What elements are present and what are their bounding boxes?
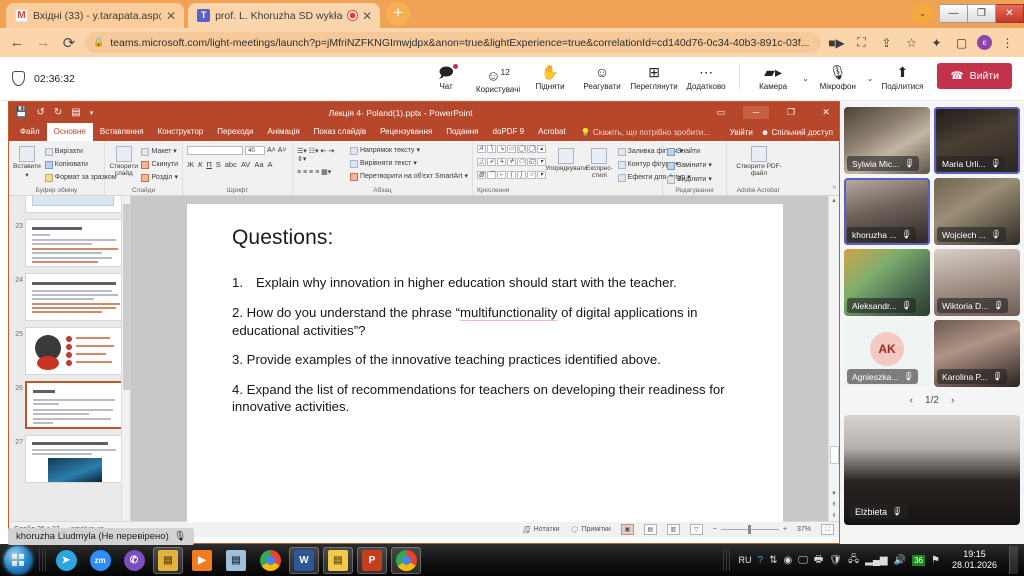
shape-oval-icon: ◯ (517, 145, 526, 153)
hangup-icon: ☎ (950, 70, 963, 82)
share-button[interactable]: ⬆ Поділитися (877, 63, 927, 91)
people-icon: ☺12 (486, 65, 510, 84)
word-icon: W (294, 550, 314, 571)
mic-muted-icon: 🎙 (991, 371, 1002, 382)
zoom-track[interactable] (721, 529, 779, 530)
mic-muted-icon: 🎙 (903, 158, 914, 169)
camera-chevron-down-icon[interactable]: ⌄ (800, 74, 811, 83)
zoom-slider[interactable]: − + (713, 526, 787, 533)
collapse-ribbon-icon[interactable]: ^ (833, 186, 836, 193)
text-direction-label: Напрямок тексту (360, 146, 415, 156)
restore-button[interactable]: ❐ (778, 107, 804, 118)
badge-dot (453, 64, 458, 69)
tab-acrobat[interactable]: Acrobat (531, 123, 573, 141)
mic-icon: 🎙 (900, 229, 911, 240)
leave-button[interactable]: ☎ Вийти (937, 63, 1012, 89)
participant-name-badge: Agnieszka... 🎙 (847, 369, 918, 384)
taskbar-powerpoint[interactable]: P (357, 547, 387, 574)
layout-button[interactable]: Макет ▾ (141, 147, 178, 157)
italic-button[interactable]: К (198, 160, 202, 169)
view-button[interactable]: ⊞ Переглянути (629, 63, 679, 91)
tab-home[interactable]: Основне (47, 123, 93, 141)
share-link[interactable]: ☻ Спільний доступ (761, 128, 833, 137)
shape-textbox-icon: A (477, 145, 486, 153)
font-color-button[interactable]: A (268, 160, 273, 169)
increase-font-size-button[interactable]: A˄ (267, 147, 276, 154)
participant-tile[interactable]: Wojciech ... 🎙 (934, 178, 1020, 245)
quick-styles-label: Експрес-стилі (586, 165, 613, 179)
close-icon[interactable]: ✕ (362, 10, 372, 22)
participant-name: Sylwia Mic... (852, 159, 899, 169)
system-tray: RU ? ⇅ ◉ 🖵 🖶 🛡 🖧 ▂▄▆ 🔊 36 ⚑ 19:15 28.01.… (720, 546, 1022, 574)
find-label: Знайти (677, 147, 700, 157)
shape-flow-icon: ◱ (527, 158, 536, 166)
ribbon-display-options-button[interactable]: ▭ (708, 107, 734, 118)
slide-thumbnail-panel[interactable]: 22 23 (9, 196, 131, 521)
slide-number: 27 (13, 435, 23, 446)
security-icon[interactable]: 🛡 (829, 555, 842, 566)
tell-me-box[interactable]: 💡 Скажіть, що потрібно зробити... (573, 128, 710, 137)
replace-label: Замінити (677, 161, 706, 171)
participants-button[interactable]: ☺12 Користувачі (473, 63, 523, 95)
chevron-down-icon[interactable]: ⌄ (912, 3, 933, 24)
tab-transitions[interactable]: Переходи (210, 123, 260, 141)
participant-tile[interactable]: Sylwia Mic... 🎙 (844, 107, 930, 174)
text-direction-icon (350, 147, 358, 155)
change-case-button[interactable]: Aa (254, 160, 263, 169)
ribbon-group-editing: Знайти Замінити ▾ Виділити ▾ Редагування (663, 141, 727, 195)
chrome-icon (260, 550, 281, 571)
group-label: Редагування (663, 187, 726, 194)
scrollbar-thumb[interactable] (830, 446, 839, 464)
layout-icon (141, 148, 149, 156)
browser-tab-teams[interactable]: prof. L. Khoruzha SD wykład ✕ (188, 3, 380, 28)
minimize-button[interactable]: — (940, 4, 968, 23)
next-page-icon[interactable]: › (951, 395, 954, 406)
printer-icon[interactable]: 🖶 (814, 552, 823, 569)
list-item: 2. How do you understand the phrase “mul… (232, 304, 755, 339)
divider (739, 63, 740, 89)
tab-view[interactable]: Подання (439, 123, 485, 141)
shape-cube-icon: ▧ (477, 171, 486, 179)
copy-icon (45, 161, 53, 169)
effects-icon (618, 174, 626, 182)
taskbar-notes[interactable]: ▤ (221, 547, 251, 574)
mic-button[interactable]: 🎙 Мікрофон (813, 63, 863, 91)
presenter-name-chip: khoruzha Liudmyla (Не перевірено) 🎙 (8, 528, 194, 545)
camera-button[interactable]: ▰▸ Камера (748, 63, 798, 91)
shadow-button[interactable]: S (216, 160, 221, 169)
align-buttons-row[interactable]: ≡ ≡ ≡ ≡ ▦▾ (297, 168, 342, 176)
paste-button[interactable]: Вставити ▾ (13, 143, 41, 183)
zoom-level: 37% (797, 526, 811, 533)
participant-tile[interactable]: Maria Urli... 🎙 (934, 107, 1020, 174)
replace-button[interactable]: Замінити ▾ (667, 161, 722, 171)
section-button[interactable]: Розділ ▾ (141, 173, 178, 183)
share-icon[interactable]: ⇪ (877, 36, 896, 50)
cut-label: Вирізати (55, 147, 83, 157)
find-button[interactable]: Знайти (667, 147, 722, 157)
language-indicator[interactable]: RU (739, 555, 752, 565)
teams-controls: 🗩 Чат ☺12 Користувачі ✋ Підняти ☺ Реагув… (421, 63, 1012, 95)
group-label: Абзац (293, 187, 472, 194)
clock-time: 19:15 (952, 549, 997, 560)
quick-styles-button[interactable]: Експрес-стилі (586, 145, 613, 183)
shape-circle-icon: ◯ (527, 145, 536, 153)
previous-page-icon[interactable]: ‹ (910, 395, 913, 406)
taskbar-telegram[interactable]: ➤ (51, 547, 81, 574)
shape-star-icon: ☆ (527, 171, 536, 179)
raise-hand-button[interactable]: ✋ Підняти (525, 63, 575, 91)
participant-name: Aleksandr... (852, 301, 896, 311)
zoom-out-button[interactable]: − (713, 526, 717, 533)
font-size-input[interactable]: 40 (245, 146, 265, 155)
participant-tile[interactable]: Karolina P... 🎙 (934, 320, 1020, 387)
save-icon[interactable]: 💾 (15, 107, 27, 118)
participant-name: Agnieszka... (852, 372, 898, 382)
sidepanel-icon[interactable]: ▢ (952, 36, 971, 50)
arrange-icon (558, 148, 574, 164)
present-icon[interactable]: ▤ (71, 107, 80, 118)
shape-brace-left-icon: { (507, 171, 516, 179)
taskbar-chrome-active[interactable] (391, 547, 421, 574)
slide-thumbnail[interactable] (25, 273, 126, 321)
slide-scrollbar[interactable]: ▲ ▼ ⇞ ⇟ (828, 196, 839, 521)
select-icon (667, 176, 675, 184)
more-button[interactable]: ⋯ Додатково (681, 63, 731, 91)
start-button[interactable] (4, 546, 32, 574)
slide-sorter-view-button[interactable]: ▤ (644, 524, 657, 535)
flag-icon[interactable]: ⚑ (931, 555, 940, 566)
forward-icon[interactable]: → (33, 34, 53, 51)
current-slide[interactable]: Questions: 1. Explain why innovation in … (187, 204, 783, 522)
slide-thumbnail[interactable] (25, 196, 126, 213)
search-icon (667, 148, 675, 156)
slide-number: 25 (13, 327, 23, 338)
participant-name: khoruzha ... (852, 230, 896, 240)
taskbar-explorer[interactable]: ▤ (153, 547, 183, 574)
react-label: Реагувати (583, 82, 620, 91)
help-icon[interactable]: ? (758, 555, 764, 566)
powerpoint-title: Лекція 4- Poland(1).pptx - PowerPoint (102, 108, 699, 118)
notes-label: Нотатки (534, 526, 560, 533)
smartart-button[interactable]: Перетворити на об'єкт SmartArt ▾ (350, 172, 468, 182)
chrome-icon[interactable]: ◉ (783, 555, 792, 566)
group-label: Креслення (473, 187, 662, 194)
slide-thumbnail-selected[interactable] (25, 381, 126, 429)
notes-button[interactable]: 🗒Нотатки (522, 526, 560, 534)
fit-slide-icon[interactable]: ⛶ (821, 524, 834, 535)
clock[interactable]: 19:15 28.01.2026 (946, 549, 1003, 571)
titlebar-right: Увійти ☻ Спільний доступ (730, 128, 839, 137)
close-icon[interactable]: ✕ (166, 10, 176, 22)
slide-thumbnail[interactable] (25, 219, 126, 267)
mic-muted-icon: 🎙 (829, 65, 847, 80)
new-slide-icon (116, 146, 132, 162)
teams-meeting-toolbar: 02:36:32 🗩 Чат ☺12 Користувачі ✋ Підняти… (0, 57, 1024, 101)
align-text-icon (350, 160, 358, 168)
smartart-icon (350, 173, 358, 181)
section-label: Розділ (151, 173, 172, 183)
taskbar-folder[interactable]: ▤ (323, 547, 353, 574)
translate-icon[interactable]: ⛶ (852, 35, 871, 50)
tell-me-text: Скажіть, що потрібно зробити... (593, 128, 710, 137)
smartart-label: Перетворити на об'єкт SmartArt (360, 172, 463, 182)
show-desktop-button[interactable] (1009, 546, 1018, 574)
taskbar-zoom[interactable]: zm (85, 547, 115, 574)
group-label: Adobe Acrobat (727, 187, 789, 194)
address-bar[interactable]: 🔒 teams.microsoft.com/light-meetings/lau… (85, 32, 821, 53)
tab-dopdf[interactable]: doPDF 9 (486, 123, 532, 141)
mic-muted-icon: 🎙 (990, 229, 1001, 240)
powerpoint-icon: P (362, 550, 382, 571)
ribbon-group-font: 40 A˄ A˅ Ж К П S abc AV Aa A Шрифт (183, 141, 293, 195)
chat-icon: 🗩 (438, 65, 454, 80)
list-item: 3. Provide examples of the innovative te… (232, 351, 755, 368)
mic-muted-icon: 🎙 (900, 300, 911, 311)
scroll-down-icon[interactable]: ▼ (829, 489, 839, 499)
zoom-icon: zm (90, 550, 111, 571)
scrollbar-thumb[interactable] (123, 204, 130, 390)
taskbar-viber[interactable]: ✆ (119, 547, 149, 574)
underline-button[interactable]: П (206, 160, 211, 169)
next-slide-icon[interactable]: ⇟ (829, 511, 839, 521)
spotlight-participant-tile[interactable]: Elżbieta 🎙 (844, 415, 1020, 525)
redo-icon[interactable]: ↻ (54, 107, 62, 118)
avatar: AK (870, 332, 904, 366)
shape-plus-icon: ✛ (507, 158, 516, 166)
customize-icon[interactable]: ▾ (90, 109, 94, 117)
bookmark-star-icon[interactable]: ☆ (902, 36, 921, 50)
undo-icon[interactable]: ↺ (36, 107, 44, 118)
group-label: Шрифт (183, 187, 292, 194)
comments-label: Примітки (581, 526, 610, 533)
meeting-timer-group: 02:36:32 (12, 71, 75, 86)
tab-file[interactable]: Файл (13, 123, 47, 141)
powerpoint-titlebar: 💾 ↺ ↻ ▤ ▾ Лекція 4- Poland(1).pptx - Pow… (9, 102, 839, 123)
participant-name-badge: Elżbieta 🎙 (849, 504, 908, 519)
paste-chevron-down-icon[interactable]: ▾ (25, 171, 28, 179)
minimize-button[interactable]: － (743, 106, 769, 119)
select-button[interactable]: Виділити ▾ (667, 175, 722, 185)
browser-menu-icon[interactable]: ⋮ (998, 36, 1017, 50)
powerpoint-window: 💾 ↺ ↻ ▤ ▾ Лекція 4- Poland(1).pptx - Pow… (8, 101, 840, 544)
participant-name: Karolina P... (942, 372, 987, 382)
participant-name-badge: khoruzha ... 🎙 (847, 227, 916, 242)
gmail-icon (15, 9, 28, 22)
zoom-knob[interactable] (748, 525, 751, 534)
list-item[interactable]: 23 (9, 216, 130, 270)
participant-name: Elżbieta (855, 507, 887, 517)
new-slide-label: Створити слайд (109, 163, 138, 177)
explorer-icon: ▤ (158, 550, 178, 571)
tab-design[interactable]: Конструктор (151, 123, 211, 141)
list-item[interactable]: 24 (9, 270, 130, 324)
participant-tile[interactable]: Wiktoria D... 🎙 (934, 249, 1020, 316)
windows-taskbar: ➤ zm ✆ ▤ ▶ ▤ W ▤ P RU ? ⇅ ◉ 🖵 🖶 🛡 🖧 ▂▄▆ … (0, 544, 1024, 576)
reload-icon[interactable]: ⟳ (59, 34, 79, 52)
browser-tab-gmail[interactable]: Вхідні (33) - y.tarapata.asp@kub ✕ (6, 3, 184, 28)
tab-slideshow[interactable]: Показ слайдів (307, 123, 373, 141)
reset-icon (141, 161, 149, 169)
folder-icon: ▤ (328, 550, 348, 571)
display-icon[interactable]: 🖵 (798, 555, 808, 566)
text-direction-button[interactable]: Напрямок тексту ▾ (350, 146, 468, 156)
participant-name: Wiktoria D... (942, 301, 988, 311)
zoom-in-button[interactable]: + (783, 526, 787, 533)
leave-label: Вийти (970, 70, 999, 82)
mic-muted-icon: 🎙 (902, 371, 913, 382)
taskbar-chrome[interactable] (255, 547, 285, 574)
create-pdf-button[interactable]: Створити PDF-файл (731, 143, 787, 177)
browser-tabstrip: Вхідні (33) - y.tarapata.asp@kub ✕ prof.… (0, 0, 1024, 28)
char-spacing-button[interactable]: AV (241, 160, 250, 169)
participant-name: Maria Urli... (942, 159, 985, 169)
ribbon-group-drawing: A ╲ ↘ ▭ ◯ ◯ ▴ △ ↲ ↳ ✛ ⬠ ◱ ▾ ▧ (473, 141, 663, 195)
url-text: teams.microsoft.com/light-meetings/launc… (110, 37, 809, 49)
bold-button[interactable]: Ж (187, 160, 194, 169)
mic-label: Мікрофон (820, 82, 856, 91)
participant-name-badge: Maria Urli... 🎙 (937, 156, 1005, 171)
powerpoint-ribbon: Вставити ▾ Вирізати Копіювати Формат за … (9, 141, 839, 196)
close-button[interactable]: ✕ (813, 107, 839, 118)
notes-icon: 🗒 (522, 526, 531, 534)
raise-hand-icon: ✋ (541, 65, 558, 80)
previous-slide-icon[interactable]: ⇞ (829, 500, 839, 510)
chat-button[interactable]: 🗩 Чат (421, 63, 471, 91)
list-item[interactable]: 27 (9, 432, 130, 486)
decrease-font-size-button[interactable]: A˅ (278, 147, 287, 154)
slide-number: 24 (13, 273, 23, 284)
group-label: Буфер обміну (9, 187, 104, 194)
list-item[interactable]: 25 (9, 324, 130, 378)
slide-body: 1. Explain why innovation in higher educ… (232, 274, 755, 416)
comments-button[interactable]: 🗨Примітки (570, 526, 611, 534)
participant-name: Wojciech ... (942, 230, 986, 240)
divider (723, 549, 730, 571)
participant-tile[interactable]: Aleksandr... 🎙 (844, 249, 930, 316)
slide-thumbnail[interactable] (25, 327, 126, 375)
ribbon-group-slides: Створити слайд Макет ▾ Скинути Розділ ▾ … (105, 141, 183, 195)
slide-thumbnail[interactable] (25, 435, 126, 483)
camera-icon: ▰▸ (764, 65, 782, 80)
shapes-gallery[interactable]: A ╲ ↘ ▭ ◯ ◯ ▴ △ ↲ ↳ ✛ ⬠ ◱ ▾ ▧ (477, 145, 546, 183)
participant-tile[interactable]: AK Agnieszka... 🎙 (844, 320, 930, 387)
share-screen-icon: ⬆ (897, 65, 909, 80)
list-item[interactable]: 22 (9, 196, 130, 216)
list-buttons-row[interactable]: ☰▾ ☷▾ ⇤ ⇥ ⇕▾ (297, 147, 342, 163)
taskbar-word[interactable]: W (289, 547, 319, 574)
arrange-button[interactable]: Упорядкувати (551, 145, 581, 183)
extensions-icon[interactable]: ✦ (927, 36, 946, 50)
list-item[interactable]: 26 (9, 378, 130, 432)
participant-tile[interactable]: khoruzha ... 🎙 (844, 178, 930, 245)
presenter-label: khoruzha Liudmyla (Не перевірено) (16, 531, 169, 542)
shape-arrow-icon: ↘ (497, 145, 506, 153)
slide-number: 23 (13, 219, 23, 230)
strikethrough-button[interactable]: abc (225, 160, 237, 169)
close-button[interactable]: ✕ (996, 4, 1024, 23)
tab-title: Вхідні (33) - y.tarapata.asp@kub (33, 10, 161, 22)
scissors-icon (45, 148, 53, 156)
font-name-input[interactable] (187, 146, 243, 155)
avatar[interactable]: є (977, 35, 992, 50)
share-label: Спільний доступ (771, 128, 833, 137)
scrollbar[interactable] (121, 196, 130, 521)
shield-icon (12, 71, 25, 86)
signal-icon[interactable]: ▂▄▆ (865, 555, 887, 566)
reset-button[interactable]: Скинути (141, 160, 178, 170)
slide-canvas-area: Questions: 1. Explain why innovation in … (131, 196, 839, 521)
clock-date: 28.01.2026 (952, 560, 997, 571)
powerpoint-ribbon-tabs: Файл Основне Вставлення Конструктор Пере… (9, 123, 839, 141)
network-icon[interactable]: 🖧 (848, 552, 859, 569)
reading-view-button[interactable]: ▥ (667, 524, 680, 535)
tab-review[interactable]: Рецензування (373, 123, 439, 141)
participant-name-badge: Aleksandr... 🎙 (847, 298, 916, 313)
tab-insert[interactable]: Вставлення (93, 123, 151, 141)
shape-bent-arrow-icon: ↲ (487, 158, 496, 166)
group-label: Слайди (105, 187, 182, 194)
media-player-icon: ▶ (192, 550, 212, 571)
status-badge[interactable]: 36 (912, 555, 925, 566)
shape-curve2-icon: ⌐ (497, 171, 506, 179)
shape-arc-icon: ⌒ (487, 171, 496, 179)
react-button[interactable]: ☺ Реагувати (577, 63, 627, 91)
shape-curve-icon: ↳ (497, 158, 506, 166)
tab-title: prof. L. Khoruzha SD wykład (215, 10, 343, 22)
camera-label: Камера (759, 82, 787, 91)
updates-icon[interactable]: ⇅ (769, 555, 777, 566)
shape-pentagon-icon: ⬠ (517, 158, 526, 166)
comment-icon: 🗨 (570, 526, 579, 534)
participants-rail: Sylwia Mic... 🎙 Maria Urli... 🎙 khoruzha… (840, 101, 1024, 544)
normal-view-button[interactable]: ▣ (621, 524, 634, 535)
align-text-button[interactable]: Вирівняти текст ▾ (350, 159, 468, 169)
camera-icon[interactable]: ■▶ (827, 36, 846, 50)
participant-grid: Sylwia Mic... 🎙 Maria Urli... 🎙 khoruzha… (844, 107, 1020, 387)
notes-icon: ▤ (226, 550, 246, 571)
section-icon (141, 174, 149, 182)
share-label: Поділитися (881, 82, 923, 91)
more-icon: ⋯ (699, 65, 713, 80)
viber-icon: ✆ (124, 550, 145, 571)
reset-label: Скинути (151, 160, 178, 170)
maximize-button[interactable]: ❐ (968, 4, 996, 23)
participants-pager: ‹ 1/2 › (844, 391, 1020, 409)
slide-number: 26 (13, 381, 23, 392)
volume-icon[interactable]: 🔊 (894, 555, 906, 566)
powerpoint-body: 22 23 (9, 196, 839, 521)
mic-chevron-down-icon[interactable]: ⌄ (865, 74, 876, 83)
select-label: Виділити (677, 175, 706, 185)
slideshow-view-button[interactable]: ▽ (690, 524, 703, 535)
new-slide-button[interactable]: Створити слайд (109, 143, 138, 183)
page-indicator: 1/2 (925, 395, 939, 406)
taskbar-media-player[interactable]: ▶ (187, 547, 217, 574)
outline-icon (618, 161, 626, 169)
back-icon[interactable]: ← (7, 34, 27, 51)
signin-link[interactable]: Увійти (730, 128, 753, 137)
tab-animations[interactable]: Анімація (260, 123, 306, 141)
new-tab-button[interactable]: + (386, 2, 410, 26)
paste-icon (19, 146, 35, 162)
view-grid-icon: ⊞ (648, 65, 660, 80)
mic-muted-icon: 🎙 (989, 158, 1000, 169)
shape-triangle-icon: △ (477, 158, 486, 166)
scroll-up-icon[interactable]: ▲ (829, 196, 839, 206)
mic-muted-icon: 🎙 (891, 506, 902, 517)
